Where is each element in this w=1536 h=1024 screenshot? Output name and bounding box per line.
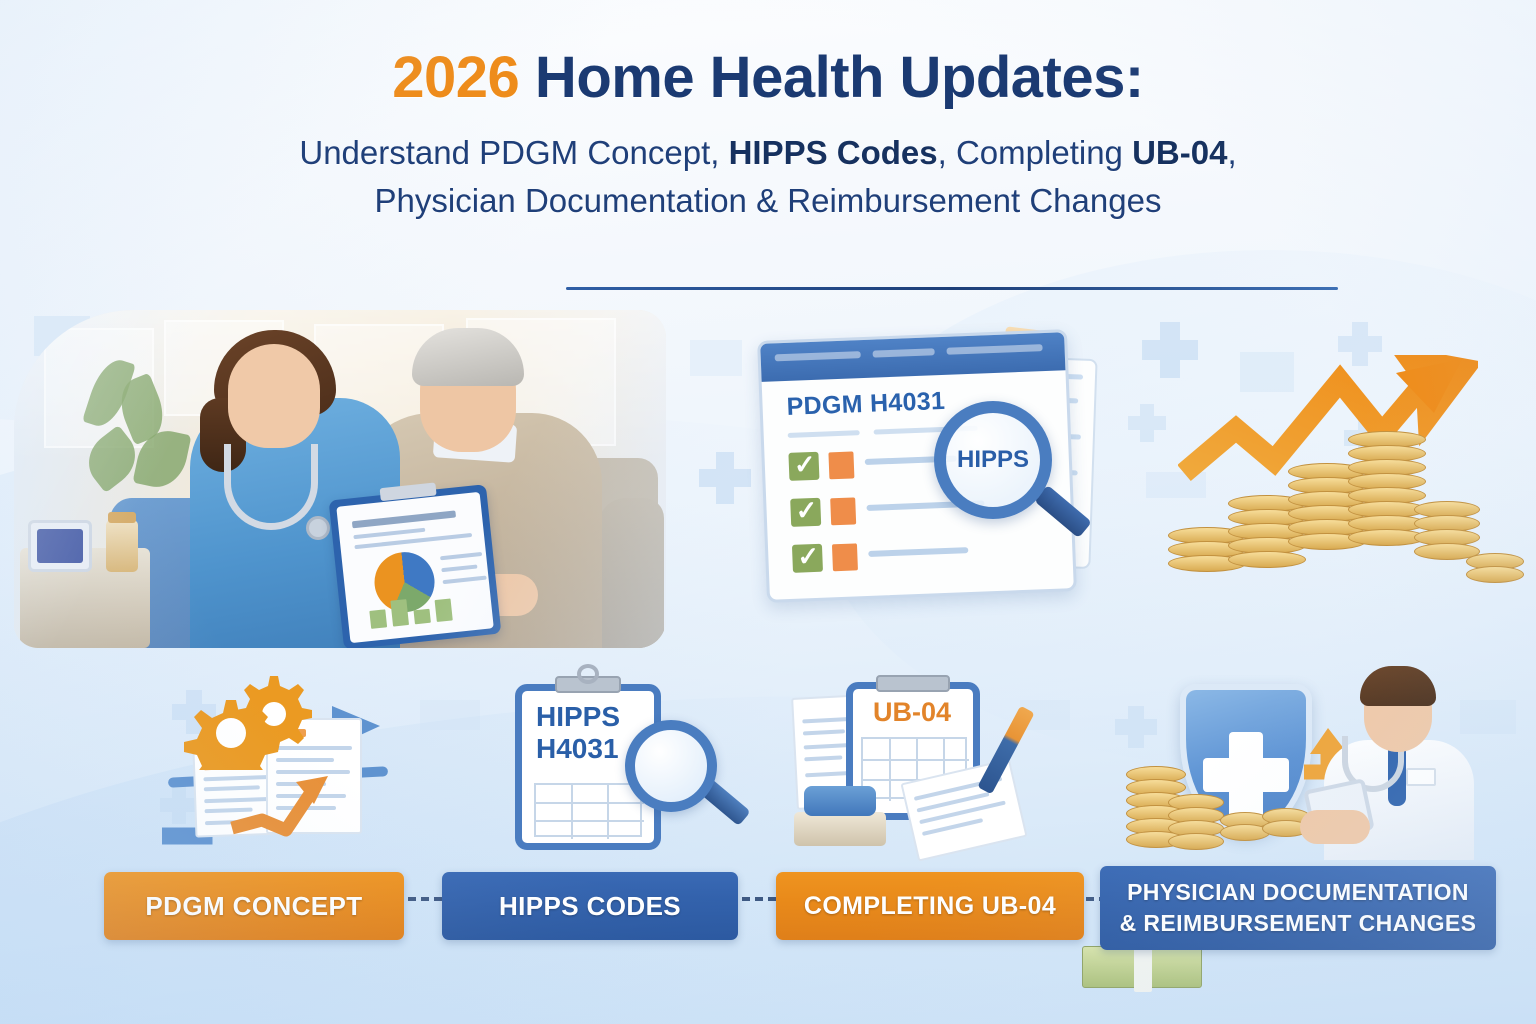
title-year: 2026 [392, 45, 519, 110]
magnifier-label: HIPPS [934, 401, 1052, 519]
checkmark-icon [792, 544, 823, 573]
subtitle-seg-c: , Completing [938, 134, 1132, 171]
ub04-label: UB-04 [873, 697, 951, 728]
checkmark-icon [790, 498, 821, 527]
icon-physician-documentation [1110, 662, 1460, 860]
hipps-label-line2: H4031 [536, 733, 620, 765]
magnifier-hipps: HIPPS [934, 401, 1052, 519]
nurse-patient-scene [14, 310, 666, 648]
icon-completing-ub04: UB-04 [790, 662, 1060, 860]
medical-cross-icon [1229, 732, 1263, 818]
hero-row: PDGM H4031 [0, 305, 1536, 650]
chip-connector [742, 897, 776, 901]
name-badge [1406, 768, 1436, 786]
pdgm-code-label: PDGM H4031 [786, 387, 946, 422]
gears-icon [182, 670, 312, 770]
chip-completing-ub04[interactable]: COMPLETING UB-04 [776, 872, 1084, 940]
orange-arrow-icon [228, 762, 348, 842]
chip-label-line2: & REIMBURSEMENT CHANGES [1120, 908, 1477, 939]
chip-label: HIPPS CODES [499, 891, 681, 922]
hipps-label-line1: HIPPS [536, 701, 620, 733]
header-divider [566, 287, 1338, 290]
chip-pdgm-concept[interactable]: PDGM CONCEPT [104, 872, 404, 940]
chip-label-line1: PHYSICIAN DOCUMENTATION [1127, 877, 1469, 908]
chip-label: COMPLETING UB-04 [804, 892, 1056, 921]
subtitle-seg-a: Understand PDGM Concept, [299, 134, 728, 171]
rubber-stamp-icon [804, 786, 876, 816]
subtitle-line-1: Understand PDGM Concept, HIPPS Codes, Co… [0, 129, 1536, 177]
subtitle-seg-e: , [1227, 134, 1236, 171]
icon-pdgm-concept [150, 662, 420, 860]
form-header-bar [760, 332, 1065, 382]
magnifier-icon [625, 720, 717, 812]
chip-connector [408, 897, 442, 901]
chip-label: PDGM CONCEPT [145, 891, 362, 922]
page-subtitle: Understand PDGM Concept, HIPPS Codes, Co… [0, 129, 1536, 225]
pdgm-document-panel: PDGM H4031 [756, 323, 1096, 601]
page-title: 2026 Home Health Updates: [0, 46, 1536, 111]
icon-hipps-codes: HIPPS H4031 [505, 662, 755, 860]
stamp-base [794, 812, 886, 846]
chip-hipps-codes[interactable]: HIPPS CODES [442, 872, 738, 940]
process-chip-row: PDGM CONCEPT HIPPS CODES COMPLETING UB-0… [0, 872, 1536, 942]
subtitle-seg-ub04: UB-04 [1132, 134, 1227, 171]
subtitle-line-2: Physician Documentation & Reimbursement … [0, 177, 1536, 225]
checkmark-icon [788, 452, 819, 481]
title-rest: Home Health Updates: [519, 45, 1143, 110]
poster-header: 2026 Home Health Updates: Understand PDG… [0, 46, 1536, 225]
infographic-poster: 2026 Home Health Updates: Understand PDG… [0, 0, 1536, 1024]
process-icon-row: HIPPS H4031 [0, 662, 1536, 860]
chip-physician-documentation[interactable]: PHYSICIAN DOCUMENTATION & REIMBURSEMENT … [1100, 866, 1496, 950]
subtitle-seg-hipps: HIPPS Codes [729, 134, 938, 171]
